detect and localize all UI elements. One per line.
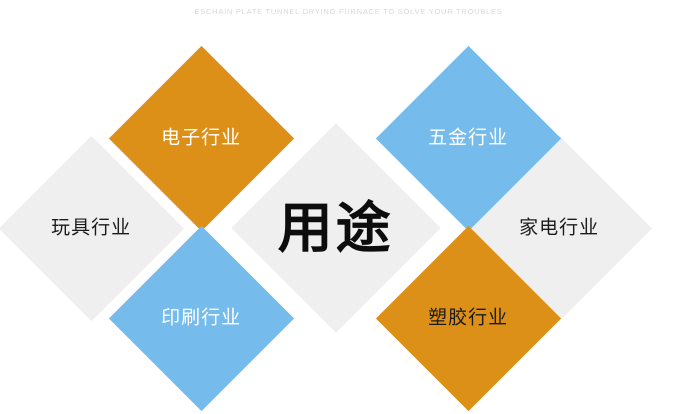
diamond-electronics-label: 电子行业 (161, 129, 241, 148)
infographic-page: ESCHAIN PLATE TUNNEL DRYING FURNACE TO S… (0, 0, 697, 414)
diamond-grid: 玩具行业 家电行业 用途 电子行业 五金行业 印刷行业 塑胶行业 (0, 0, 697, 414)
diamond-hardware-label: 五金行业 (428, 129, 508, 148)
diamond-toys-label: 玩具行业 (51, 219, 131, 238)
diamond-center-label: 用途 (278, 200, 394, 255)
diamond-plastics-label: 塑胶行业 (428, 309, 508, 328)
diamond-printing-label: 印刷行业 (161, 309, 241, 328)
diamond-appliance-label: 家电行业 (519, 219, 599, 238)
